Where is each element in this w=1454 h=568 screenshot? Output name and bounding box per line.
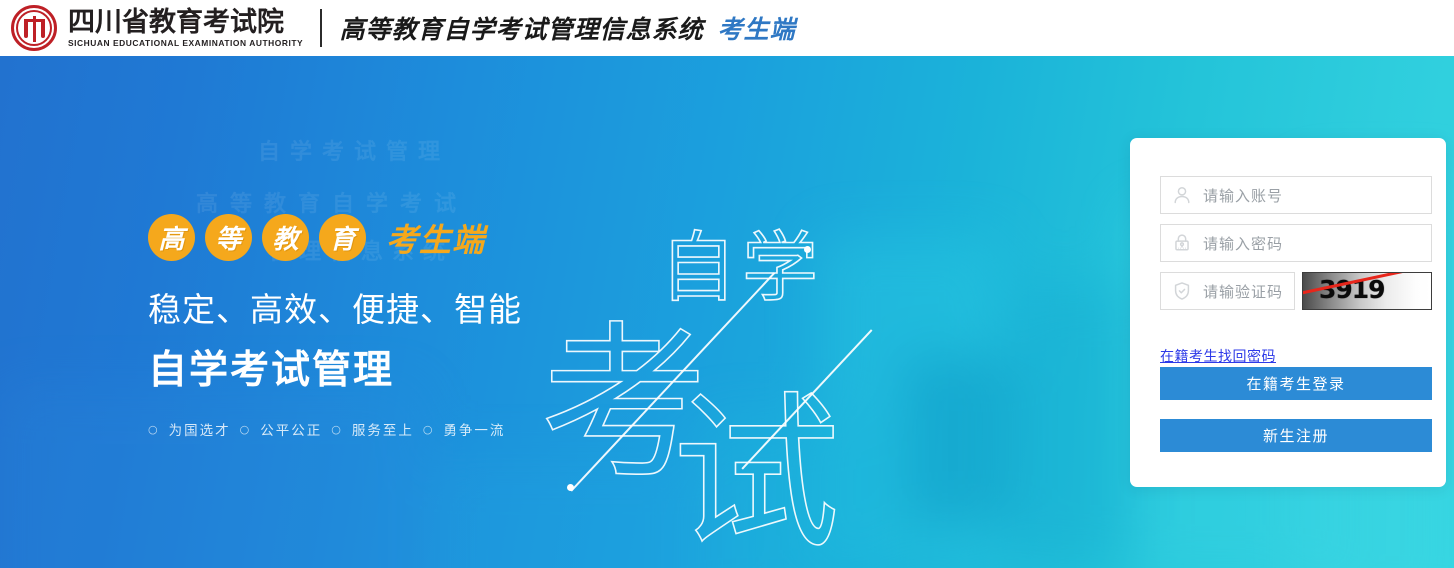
- sichuan-eea-seal-icon: [10, 4, 58, 52]
- login-button[interactable]: 在籍考生登录: [1160, 367, 1432, 400]
- username-field[interactable]: 请输入账号: [1160, 176, 1432, 214]
- hero-badge-2: 等: [205, 214, 252, 261]
- username-placeholder: 请输入账号: [1203, 185, 1283, 206]
- forgot-password-link[interactable]: 在籍考生找回密码: [1160, 346, 1276, 366]
- decorative-dot-bottom: [567, 484, 574, 491]
- header-divider: [320, 9, 322, 47]
- hero-subheading: 稳定、高效、便捷、智能: [148, 283, 522, 331]
- hero-badge-1: 高: [148, 214, 195, 261]
- app-header: 四川省教育考试院 SICHUAN EDUCATIONAL EXAMINATION…: [0, 0, 1454, 56]
- login-card: 请输入账号 请输入密码: [1130, 138, 1446, 487]
- tagline-separator-1: ○: [148, 423, 160, 436]
- tagline-separator-4: ○: [423, 423, 435, 436]
- hero-badge-tail: 考生端: [386, 215, 485, 261]
- hero-badge-row: 高 等 教 育 考生端: [148, 214, 522, 261]
- tagline-item-4: 勇争一流: [443, 419, 505, 439]
- captcha-image[interactable]: 3919: [1302, 272, 1432, 310]
- hero-badge-3: 教: [262, 214, 309, 261]
- hero-tagline: ○ 为国选才 ○ 公平公正 ○ 服务至上 ○ 勇争一流: [148, 419, 522, 439]
- tagline-separator-2: ○: [240, 423, 252, 436]
- register-button[interactable]: 新生注册: [1160, 419, 1432, 452]
- hero-heading: 自学考试管理: [148, 339, 522, 395]
- captcha-placeholder: 请输验证码: [1203, 281, 1283, 302]
- hero-text-block: 高 等 教 育 考生端 稳定、高效、便捷、智能 自学考试管理 ○ 为国选才 ○ …: [148, 214, 522, 439]
- password-field[interactable]: 请输入密码: [1160, 224, 1432, 262]
- org-name-en: SICHUAN EDUCATIONAL EXAMINATION AUTHORIT…: [68, 37, 303, 49]
- tagline-item-2: 公平公正: [260, 419, 322, 439]
- org-name-cn: 四川省教育考试院: [68, 8, 306, 37]
- captcha-field[interactable]: 请输验证码: [1160, 272, 1295, 310]
- login-page: 四川省教育考试院 SICHUAN EDUCATIONAL EXAMINATION…: [0, 0, 1454, 568]
- system-title: 高等教育自学考试管理信息系统: [340, 10, 704, 46]
- tagline-item-3: 服务至上: [352, 419, 414, 439]
- background-watermark-row-1: 自学考试管理: [258, 134, 450, 166]
- system-subtitle: 考生端: [718, 10, 796, 46]
- password-placeholder: 请输入密码: [1203, 233, 1283, 254]
- hero-badge-4: 育: [319, 214, 366, 261]
- shield-check-icon: [1169, 278, 1195, 304]
- tagline-item-1: 为国选才: [169, 419, 231, 439]
- org-wordmark: 四川省教育考试院 SICHUAN EDUCATIONAL EXAMINATION…: [68, 8, 306, 49]
- tagline-separator-3: ○: [331, 423, 343, 436]
- user-icon: [1169, 182, 1195, 208]
- captcha-image-text: 3919: [1319, 275, 1385, 304]
- decorative-dot-top: [804, 246, 811, 253]
- lock-icon: [1169, 230, 1195, 256]
